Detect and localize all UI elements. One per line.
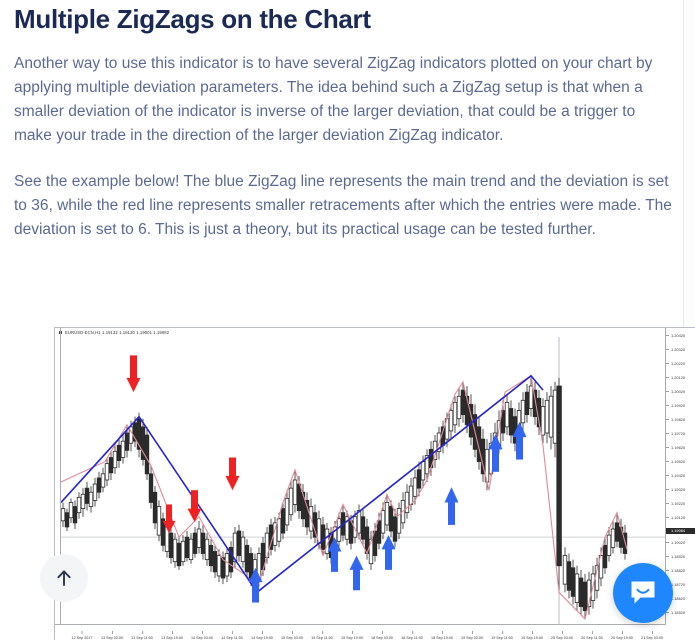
candle-group-9	[413, 396, 457, 504]
price-tick: 1.18820	[666, 568, 695, 573]
forex-chart-figure: EURUSD-ECN,H1 1.19132 1.19130 1.19001 1.…	[54, 327, 695, 640]
price-tick: 1.20220	[666, 361, 695, 366]
date-tick: 19 Sep 03:00	[461, 635, 483, 640]
price-tick: 1.19720	[666, 431, 695, 436]
date-tick: 12 Sep 2017	[72, 635, 93, 640]
date-tick: 19 Sep 11:00	[491, 635, 513, 640]
chat-bubble-icon	[628, 578, 658, 608]
price-tick: 1.20320	[666, 347, 695, 352]
price-tick: 1.20420	[666, 333, 695, 338]
date-tick: 13 Sep 11:00	[131, 635, 153, 640]
article-paragraph-2: See the example below! The blue ZigZag l…	[14, 170, 674, 242]
date-tick: 15 Sep 11:00	[311, 635, 333, 640]
article-paragraph-1: Another way to use this indicator is to …	[14, 52, 674, 148]
date-tick: 14 Sep 03:00	[191, 635, 213, 640]
date-tick: 18 Sep 11:00	[401, 635, 423, 640]
chart-symbol-label: EURUSD-ECN,H1 1.19132 1.19130 1.19001 1.…	[59, 330, 169, 336]
price-tick: 1.19120	[666, 515, 695, 520]
candle-group-13	[563, 537, 607, 619]
current-price-label: 1.19084	[666, 528, 695, 534]
sell-arrow	[127, 355, 141, 392]
price-tick: 1.18920	[666, 554, 695, 559]
price-tick: 1.19820	[666, 417, 695, 422]
sell-arrow	[226, 458, 240, 491]
candlestick-series	[61, 378, 627, 619]
scroll-to-top-button[interactable]	[40, 554, 88, 602]
price-tick: 1.19320	[666, 487, 695, 492]
chart-plot-area	[61, 337, 665, 625]
price-tick: 1.20120	[666, 375, 695, 380]
price-tick: 1.19420	[666, 473, 695, 478]
chart-canvas: EURUSD-ECN,H1 1.19132 1.19130 1.19001 1.…	[55, 328, 695, 640]
date-tick: 18 Sep 19:00	[431, 635, 453, 640]
price-tick: 1.19020	[666, 540, 695, 545]
date-tick: 15 Sep 03:00	[281, 635, 303, 640]
date-tick: 21 Sep 03:00	[641, 635, 663, 640]
page-root: Multiple ZigZags on the Chart Another wa…	[0, 0, 695, 640]
chat-launcher-button[interactable]	[613, 563, 673, 623]
chart-symbol-text: EURUSD-ECN,H1 1.19132 1.19130 1.19001 1.…	[65, 330, 169, 335]
date-tick: 18 Sep 03:00	[371, 635, 393, 640]
date-tick: 19 Sep 19:00	[521, 635, 543, 640]
date-tick: 13 Sep 19:00	[161, 635, 183, 640]
date-tick: 14 Sep 11:00	[221, 635, 243, 640]
candle-group-10	[457, 382, 501, 490]
price-tick: 1.19920	[666, 403, 695, 408]
arrow-up-icon	[54, 568, 74, 588]
date-tick: 14 Sep 19:00	[251, 635, 273, 640]
date-tick: 20 Sep 03:00	[551, 635, 573, 640]
price-tick: 1.20020	[666, 389, 695, 394]
price-tick: 1.18520	[666, 610, 695, 615]
page-title: Multiple ZigZags on the Chart	[14, 0, 674, 36]
date-scale-axis[interactable]: 12 Sep 2017 13 Sep 03:00 13 Sep 11:00 13…	[55, 625, 666, 640]
date-tick: 15 Sep 19:00	[341, 635, 363, 640]
buy-arrow	[445, 487, 459, 525]
date-tick: 20 Sep 11:00	[581, 635, 603, 640]
buy-arrow	[350, 556, 364, 591]
price-tick: 1.19520	[666, 459, 695, 464]
price-tick: 1.19220	[666, 501, 695, 506]
price-tick: 1.19620	[666, 445, 695, 450]
article-body: Multiple ZigZags on the Chart Another wa…	[14, 0, 674, 242]
chart-svg	[61, 337, 665, 625]
date-tick: 13 Sep 03:00	[101, 635, 123, 640]
date-tick: 20 Sep 19:00	[611, 635, 633, 640]
